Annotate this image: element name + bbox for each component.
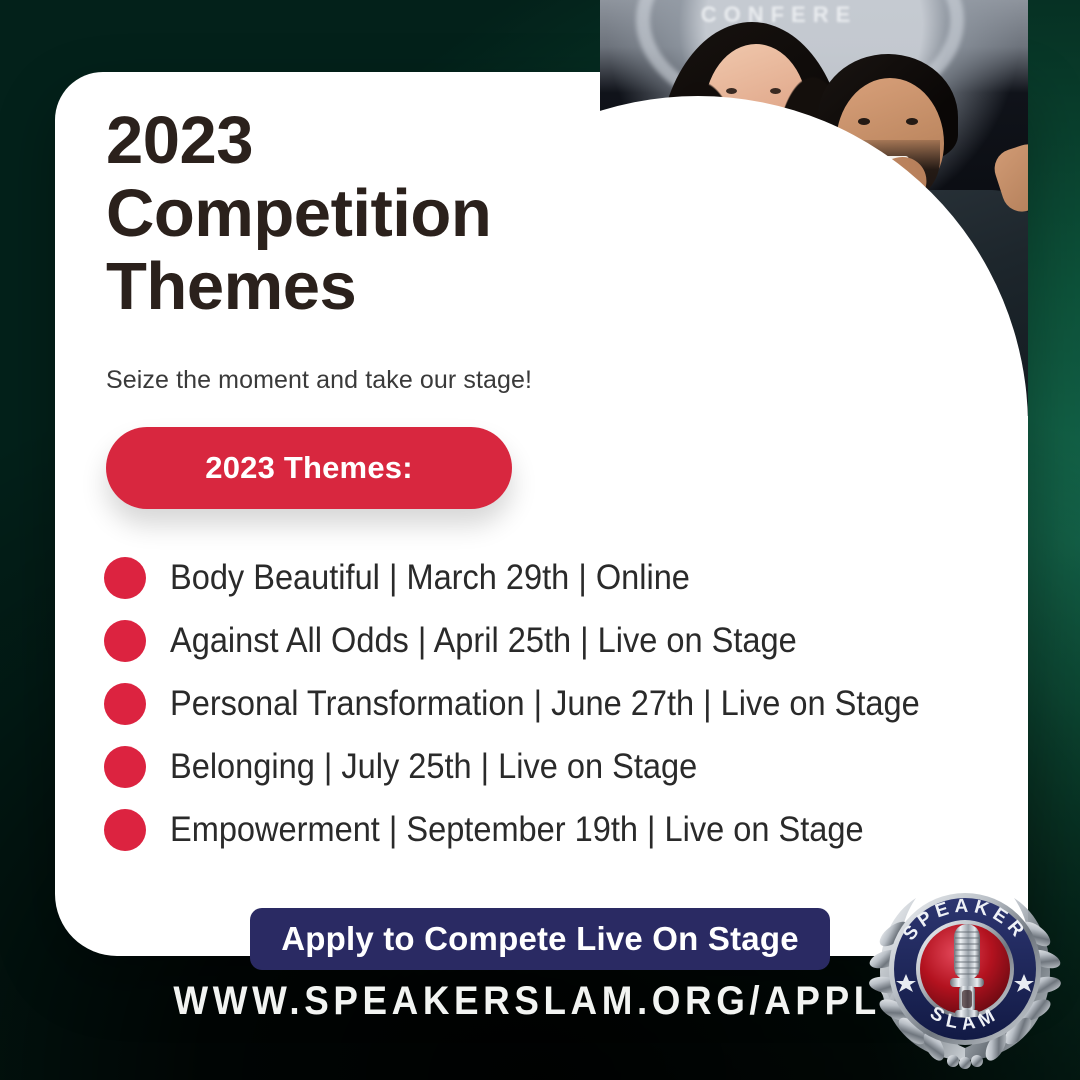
promo-poster: CONFERE 2023 Competition Theme [0, 0, 1080, 1080]
bullet-dot-icon [104, 809, 146, 851]
bullet-dot-icon [104, 746, 146, 788]
theme-text: Empowerment | September 19th | Live on S… [170, 810, 864, 850]
list-item: Empowerment | September 19th | Live on S… [104, 798, 1024, 861]
page-title: 2023 Competition Themes [106, 104, 491, 323]
themes-pill: 2023 Themes: [106, 427, 512, 509]
theme-text: Against All Odds | April 25th | Live on … [170, 621, 797, 661]
speaker-slam-logo: SPEAKER SLAM [858, 862, 1072, 1076]
theme-list: Body Beautiful | March 29th | Online Aga… [104, 546, 1024, 861]
list-item: Personal Transformation | June 27th | Li… [104, 672, 1024, 735]
list-item: Belonging | July 25th | Live on Stage [104, 735, 1024, 798]
apply-button-label: Apply to Compete Live On Stage [281, 920, 799, 958]
apply-button[interactable]: Apply to Compete Live On Stage [250, 908, 830, 970]
subtitle: Seize the moment and take our stage! [106, 366, 532, 395]
man-eye-left [858, 118, 870, 125]
bullet-dot-icon [104, 620, 146, 662]
list-item: Body Beautiful | March 29th | Online [104, 546, 1024, 609]
conference-banner-text: CONFERE [614, 2, 944, 28]
list-item: Against All Odds | April 25th | Live on … [104, 609, 1024, 672]
themes-pill-label: 2023 Themes: [205, 450, 412, 486]
bullet-dot-icon [104, 557, 146, 599]
theme-text: Personal Transformation | June 27th | Li… [170, 684, 920, 724]
photo-bottom-mask [600, 416, 1028, 422]
theme-text: Belonging | July 25th | Live on Stage [170, 747, 697, 787]
man-eye-right [906, 118, 918, 125]
bullet-dot-icon [104, 683, 146, 725]
hero-photo: CONFERE [600, 0, 1028, 422]
theme-text: Body Beautiful | March 29th | Online [170, 558, 690, 598]
